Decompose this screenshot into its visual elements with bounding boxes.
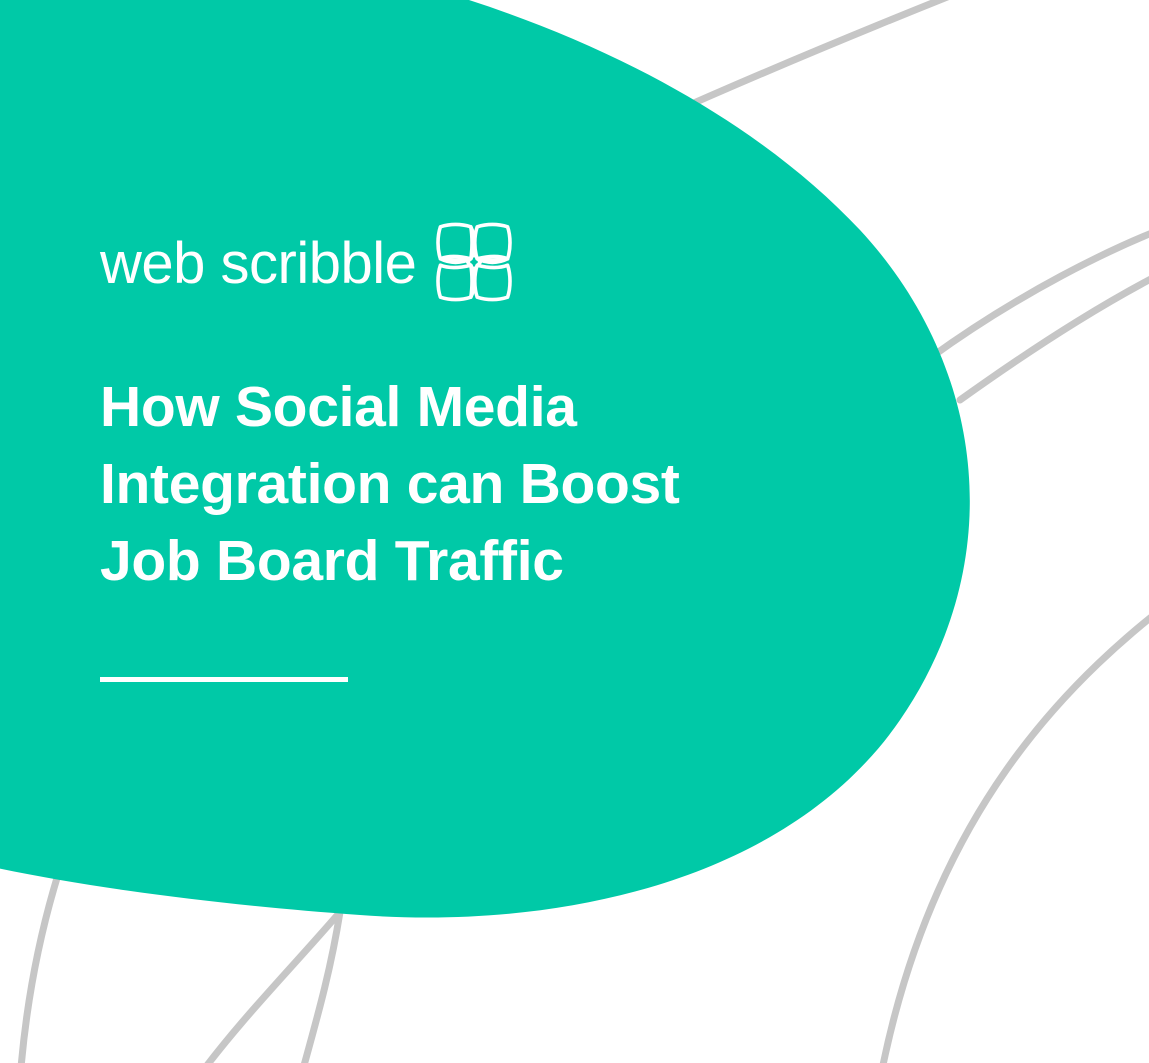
petal-bottom-right <box>475 265 510 299</box>
page-title: How Social Media Integration can Boost J… <box>100 369 880 600</box>
cover-page: web scribble How Social Media Integratio… <box>0 0 1149 1063</box>
title-line-1: How Social Media <box>100 369 880 446</box>
title-divider <box>100 677 348 682</box>
title-line-2: Integration can Boost <box>100 446 880 523</box>
brand-wordmark: web scribble <box>100 235 416 293</box>
petal-top-right <box>475 224 510 258</box>
petal-top-left <box>438 224 473 258</box>
four-petal-pinwheel-icon <box>434 222 514 302</box>
brand-logo[interactable]: web scribble <box>100 222 514 302</box>
content-layer: web scribble How Social Media Integratio… <box>0 0 1149 1063</box>
title-line-3: Job Board Traffic <box>100 523 880 600</box>
petal-bottom-left <box>438 265 473 299</box>
